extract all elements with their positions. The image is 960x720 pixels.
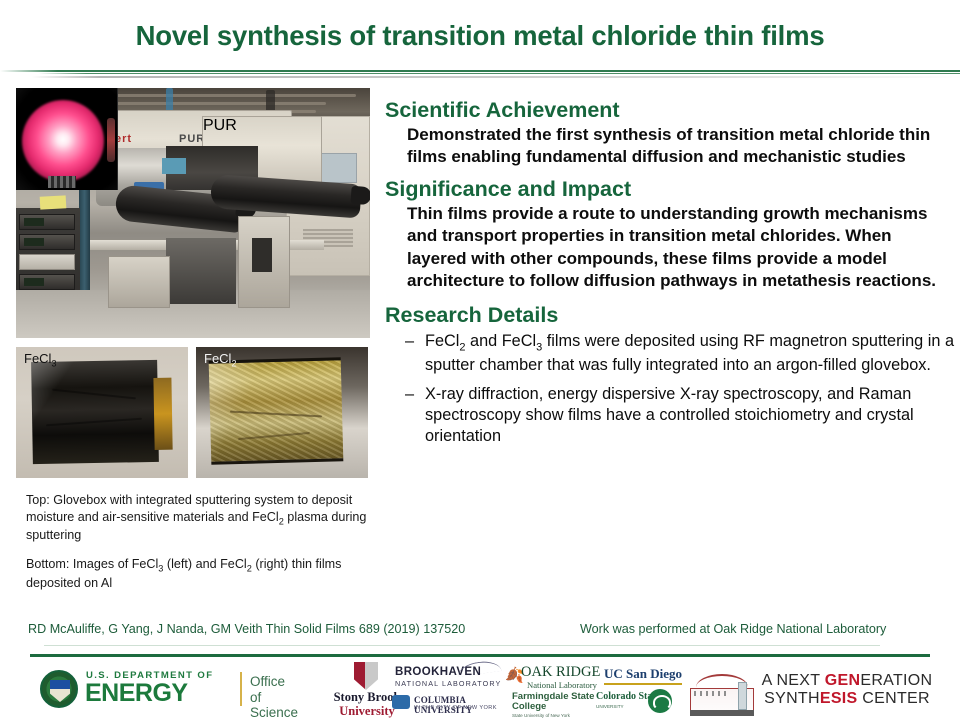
fecl3-film	[31, 360, 159, 464]
sample-label-fecl3: FeCl3	[24, 351, 56, 369]
office-line-1: Office of	[250, 674, 298, 705]
section-heading-significance-and-impact: Significance and Impact	[385, 177, 955, 201]
ngsc-text: CENTER	[858, 690, 930, 707]
uc-san-diego-logo: UC San Diego	[604, 666, 682, 685]
plasma-mount	[48, 176, 76, 188]
sample-subscript: 3	[51, 359, 56, 369]
building-base-icon	[690, 710, 754, 716]
sample-formula: FeCl	[204, 351, 231, 366]
ngsc-highlight: ESIS	[820, 690, 858, 707]
research-details-bullet-list: – FeCl2 and FeCl3 films were deposited u…	[385, 331, 955, 446]
plasma-glow	[22, 100, 104, 182]
footer-divider-green	[30, 654, 930, 657]
uc-san-diego-underline	[604, 683, 682, 685]
fecl2-film	[209, 357, 344, 464]
sample-formula: FeCl	[24, 351, 51, 366]
glove-fingers	[350, 186, 370, 205]
sticky-note	[40, 195, 67, 209]
glovebox-sputtering-photo: ert PURE PUR	[16, 88, 370, 338]
building-windows-icon	[694, 691, 730, 696]
sample-label-fecl2: FeCl2	[204, 351, 236, 369]
rack-display	[24, 278, 44, 286]
machine-panel-dark	[252, 238, 272, 272]
plasma-inset-photo	[16, 88, 118, 190]
bullet-text: FeCl	[425, 332, 459, 350]
title-divider	[0, 70, 960, 75]
doe-energy-text: ENERGY	[85, 679, 188, 708]
rack-unit	[19, 214, 75, 230]
section-heading-scientific-achievement: Scientific Achievement	[385, 98, 955, 122]
brookhaven-line-2: NATIONAL LABORATORY	[395, 679, 505, 688]
doe-seal-icon	[40, 670, 78, 708]
machine-base-dark	[166, 238, 236, 304]
doe-office-of-science-text: Office of Science	[250, 674, 298, 720]
next-generation-synthesis-center-logo: A NEXT GENERATION SYNTHESIS CENTER	[742, 672, 952, 707]
farmingdale-line-2: State University of New York	[512, 713, 598, 718]
ngsc-text: SYNTH	[764, 690, 820, 707]
colorado-state-logo: Colorado State UNIVERSITY	[596, 692, 660, 709]
caption-bottom-photos: Bottom: Images of FeCl3 (left) and FeCl2…	[26, 556, 371, 591]
stony-brook-shield-icon	[354, 662, 378, 690]
divider-line-secondary	[0, 73, 960, 74]
bullet-dash: –	[405, 331, 414, 352]
caption-text: (left) and FeCl	[163, 557, 246, 571]
caption-top-photo: Top: Glovebox with integrated sputtering…	[26, 492, 371, 544]
ngsc-text: ERATION	[860, 672, 932, 689]
section-heading-research-details: Research Details	[385, 303, 955, 327]
caption-text: Bottom: Images of FeCl	[26, 557, 158, 571]
bullet-text: X-ray diffraction, energy dispersive X-r…	[425, 385, 914, 444]
ngsc-text: A NEXT	[762, 672, 825, 689]
divider-line-primary	[0, 70, 960, 72]
section-body-scientific-achievement: Demonstrated the first synthesis of tran…	[385, 124, 955, 168]
sample-photo-fecl3: FeCl3	[16, 347, 188, 478]
list-item: – X-ray diffraction, energy dispersive X…	[405, 384, 955, 446]
ngsc-line-2: SYNTHESIS CENTER	[742, 690, 952, 708]
oak-ridge-line-1: OAK RIDGE	[521, 664, 600, 681]
bullet-text: and FeCl	[466, 332, 537, 350]
content-column: Scientific Achievement Demonstrated the …	[385, 96, 955, 455]
sample-photo-fecl2: FeCl2	[196, 347, 368, 478]
chamber-label-pur: PUR	[203, 117, 321, 135]
divider-shadow	[3, 76, 960, 78]
rack-display	[24, 238, 44, 246]
sample-subscript: 2	[231, 359, 236, 369]
doe-logo-divider	[240, 672, 242, 706]
rack-unit	[19, 254, 75, 270]
office-line-2: Science	[250, 705, 298, 720]
footer-divider-light	[44, 645, 880, 646]
ngsc-highlight: GEN	[825, 672, 861, 689]
rack-unit	[19, 234, 75, 250]
columbia-line-2: IN THE CITY OF NEW YORK	[414, 705, 497, 711]
bullet-dash: –	[405, 384, 414, 405]
work-attribution: Work was performed at Oak Ridge National…	[580, 622, 886, 636]
slide-canvas: Novel synthesis of transition metal chlo…	[0, 0, 960, 720]
ram-mascot-icon	[648, 689, 672, 713]
ngsc-line-1: A NEXT GENERATION	[742, 672, 952, 690]
farmingdale-logo: Farmingdale State College State Universi…	[512, 692, 598, 718]
page-title: Novel synthesis of transition metal chlo…	[0, 20, 960, 52]
farmingdale-line-1: Farmingdale State College	[512, 692, 598, 711]
rack-display	[24, 218, 44, 226]
uc-san-diego-text: UC San Diego	[604, 666, 682, 682]
plasma-chamber-edge	[107, 118, 115, 162]
rack-unit	[19, 274, 75, 290]
partner-logo-bar: U.S. DEPARTMENT OF ENERGY Office of Scie…	[0, 660, 960, 720]
brookhaven-logo: BROOKHAVEN NATIONAL LABORATORY	[395, 666, 505, 688]
pump-assembly	[108, 256, 170, 308]
section-body-significance-and-impact: Thin films provide a route to understand…	[385, 203, 955, 291]
list-item: – FeCl2 and FeCl3 films were deposited u…	[405, 331, 955, 376]
teal-equipment-box	[162, 158, 186, 174]
oak-ridge-line-2: National Laboratory	[527, 680, 597, 690]
doe-logo: U.S. DEPARTMENT OF ENERGY Office of Scie…	[40, 664, 240, 712]
columbia-crown-icon	[392, 695, 410, 709]
citation-reference: RD McAuliffe, G Yang, J Nanda, GM Veith …	[28, 622, 465, 636]
